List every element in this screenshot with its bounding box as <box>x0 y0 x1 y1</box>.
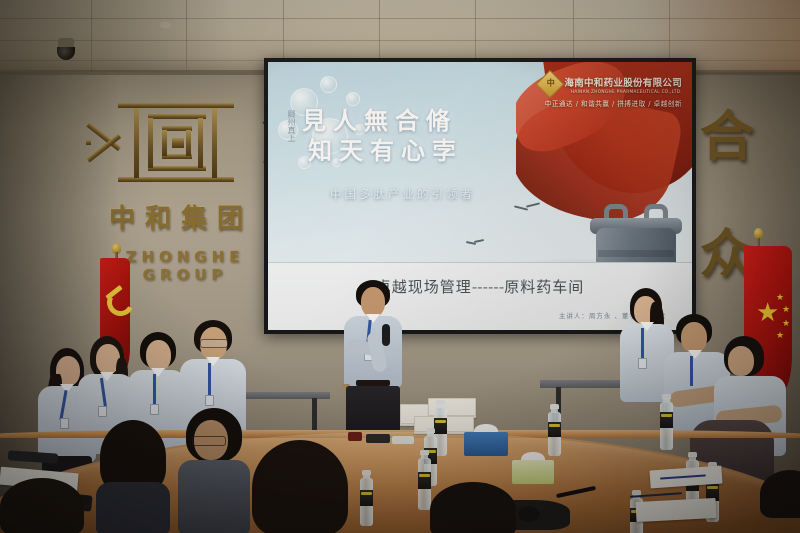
audience-foreground-6 <box>760 470 800 533</box>
dome-security-camera-icon <box>58 38 74 50</box>
tissue-box-blue <box>464 424 508 458</box>
screenshot-root: 中和集团 ZHONGHE GROUP 合 众 ★ ★ ★ ★ ★ <box>0 0 800 533</box>
microphone-icon <box>382 324 390 346</box>
slide-calligraphy-line2: 知天有心孛 <box>308 136 463 166</box>
tissue-box-green <box>512 452 554 486</box>
wall-brand-cn: 中和集团 <box>96 198 266 235</box>
company-name-en: HAINAN ZHONGHE PHARMACEUTICAL CO.,LTD. <box>564 89 682 94</box>
company-name-cn: 海南中和药业股份有限公司 <box>564 75 682 89</box>
desk-accessory <box>366 434 390 443</box>
company-slogan: 中正通达 / 和谐共赢 / 拼搏进取 / 卓越创新 <box>540 98 682 108</box>
audience-foreground-3 <box>252 440 348 533</box>
slide-calligraphy: 見人無合脩 知天有心孛 <box>302 106 463 166</box>
desk-stamp <box>348 432 362 441</box>
audience-foreground-4 <box>0 478 84 533</box>
hexagonal-gold-emblem-icon <box>86 100 266 185</box>
desk-card-holder <box>392 436 414 444</box>
eyeglasses-icon <box>200 339 228 348</box>
belt <box>356 380 390 386</box>
audience-foreground-2 <box>178 408 250 533</box>
slide-seal-text: 卿州真上 <box>282 110 296 142</box>
audience-foreground-1 <box>96 420 170 533</box>
notepad-2 <box>636 498 717 522</box>
logo-mark-char: 中 <box>542 75 560 91</box>
slide-calligraphy-line1: 見人無合脩 <box>302 106 463 136</box>
slide-band-divider <box>268 262 692 263</box>
slide-bird-icon-2 <box>466 238 484 246</box>
slide-corporate-logo: 中 海南中和药业股份有限公司 HAINAN ZHONGHE PHARMACEUT… <box>540 74 682 108</box>
audience-foreground-5 <box>430 482 516 533</box>
water-bottle-4 <box>548 404 561 458</box>
wall-char-he: 合 <box>700 92 754 171</box>
ceiling-shadow-left <box>0 0 230 72</box>
water-bottle-9 <box>360 470 373 528</box>
eyeglasses-icon-2 <box>192 436 226 446</box>
slide-band-title-tail: 原料药车间 <box>504 278 584 296</box>
company-logo-mark-icon: 中 <box>536 70 564 98</box>
water-bottle-3 <box>660 394 673 452</box>
smoke-detector-icon <box>160 22 171 28</box>
slide-band-title-dash: ------ <box>472 278 504 296</box>
slide-subtitle: 中国多肽产业的引领者 <box>330 186 475 202</box>
